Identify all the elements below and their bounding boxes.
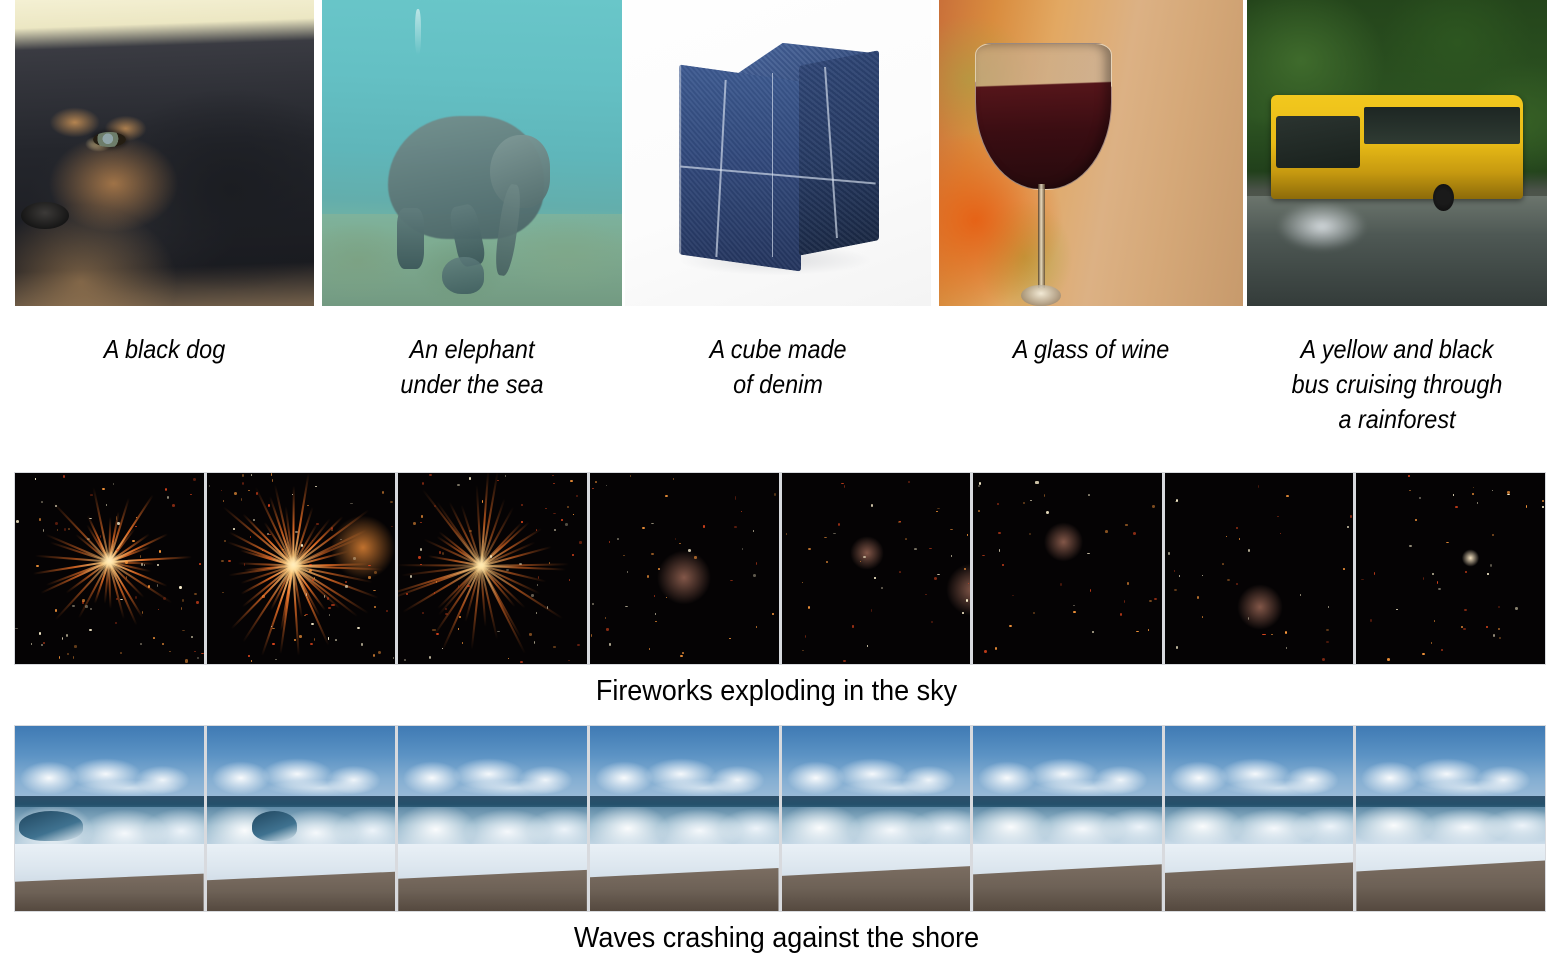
fireworks-frame — [1356, 473, 1545, 664]
video-strip-fireworks: Fireworks exploding in the sky — [0, 472, 1553, 713]
figure-root: A black dog An elephant under the sea — [0, 0, 1553, 972]
caption-elephant-under-sea: An elephant under the sea — [337, 332, 607, 402]
fireworks-frame — [973, 473, 1162, 664]
fireworks-frame-row — [14, 472, 1546, 665]
caption-waves: Waves crashing against the shore — [54, 916, 1498, 960]
fireworks-frame — [15, 473, 204, 664]
bus-side-windows — [1364, 107, 1520, 144]
fireworks-artwork — [1356, 473, 1545, 664]
sample-glass-of-wine: A glass of wine — [939, 0, 1243, 367]
waves-artwork — [1356, 726, 1545, 911]
fireworks-artwork — [590, 473, 779, 664]
wave-clouds — [15, 756, 204, 797]
waves-frame — [1356, 726, 1545, 911]
image-elephant-under-sea — [322, 0, 622, 306]
waves-frame — [207, 726, 396, 911]
fireworks-artwork — [207, 473, 396, 664]
waves-frame — [15, 726, 204, 911]
waves-artwork — [973, 726, 1162, 911]
waves-artwork — [15, 726, 204, 911]
wave-surf — [782, 807, 971, 848]
sample-black-dog: A black dog — [15, 0, 314, 367]
wave-surf — [1165, 807, 1354, 845]
fireworks-frame — [398, 473, 587, 664]
wine-glass-stem — [1038, 184, 1045, 288]
sample-denim-cube: A cube made of denim — [625, 0, 931, 402]
wave-clouds — [973, 756, 1162, 797]
fireworks-frame — [207, 473, 396, 664]
fireworks-frame — [590, 473, 779, 664]
wave-clouds — [1165, 756, 1354, 797]
wave-curl — [252, 811, 297, 841]
wave-clouds — [590, 756, 779, 797]
waves-frame — [590, 726, 779, 911]
wave-clouds — [1356, 756, 1545, 797]
wine-artwork — [939, 0, 1243, 306]
cube-seam-vertical-2 — [772, 73, 774, 257]
wave-clouds — [782, 756, 971, 797]
cube-right-face — [799, 50, 879, 255]
dog-artwork — [15, 0, 314, 306]
fireworks-artwork — [1165, 473, 1354, 664]
image-glass-of-wine — [939, 0, 1243, 306]
wave-clouds — [398, 756, 587, 797]
caption-yellow-black-bus: A yellow and black bus cruising through … — [1262, 332, 1532, 437]
fireworks-artwork — [15, 473, 204, 664]
fireworks-artwork — [973, 473, 1162, 664]
waves-artwork — [782, 726, 971, 911]
elephant-calf — [442, 257, 484, 294]
sample-yellow-black-bus: A yellow and black bus cruising through … — [1247, 0, 1547, 437]
image-denim-cube — [625, 0, 931, 306]
waves-artwork — [207, 726, 396, 911]
fireworks-artwork — [782, 473, 971, 664]
bubble-trail — [415, 9, 421, 55]
waves-frame — [1165, 726, 1354, 911]
bus-wheel — [1433, 184, 1454, 212]
waves-artwork — [398, 726, 587, 911]
waves-frame-row — [14, 725, 1546, 912]
fireworks-artwork — [398, 473, 587, 664]
image-yellow-black-bus — [1247, 0, 1547, 306]
fireworks-frame — [782, 473, 971, 664]
waves-frame — [973, 726, 1162, 911]
caption-black-dog: A black dog — [30, 332, 299, 367]
waves-artwork — [1165, 726, 1354, 911]
wine-glass-foot — [1021, 285, 1061, 306]
wave-curl — [19, 811, 83, 841]
denim-cube-artwork — [625, 0, 931, 306]
waves-frame — [398, 726, 587, 911]
elephant-head — [490, 135, 550, 208]
wave-clouds — [207, 756, 396, 797]
single-image-sample-row: A black dog An elephant under the sea — [0, 0, 1553, 460]
caption-denim-cube: A cube made of denim — [640, 332, 915, 402]
image-black-dog — [15, 0, 314, 306]
dog-muzzle — [21, 202, 69, 230]
wine-glass-bowl — [975, 43, 1112, 190]
underwater-artwork — [322, 0, 622, 306]
caption-fireworks: Fireworks exploding in the sky — [54, 669, 1498, 713]
wave-surf — [973, 807, 1162, 847]
bus-windshield — [1276, 116, 1360, 168]
caption-glass-of-wine: A glass of wine — [954, 332, 1228, 367]
elephant-leg-front — [397, 208, 424, 269]
wave-surf — [1356, 807, 1545, 843]
bus-artwork — [1247, 0, 1547, 306]
sample-elephant-under-sea: An elephant under the sea — [322, 0, 622, 402]
water-spray — [1277, 202, 1367, 251]
video-strip-waves: Waves crashing against the shore — [0, 725, 1553, 960]
waves-frame — [782, 726, 971, 911]
fireworks-frame — [1165, 473, 1354, 664]
waves-artwork — [590, 726, 779, 911]
